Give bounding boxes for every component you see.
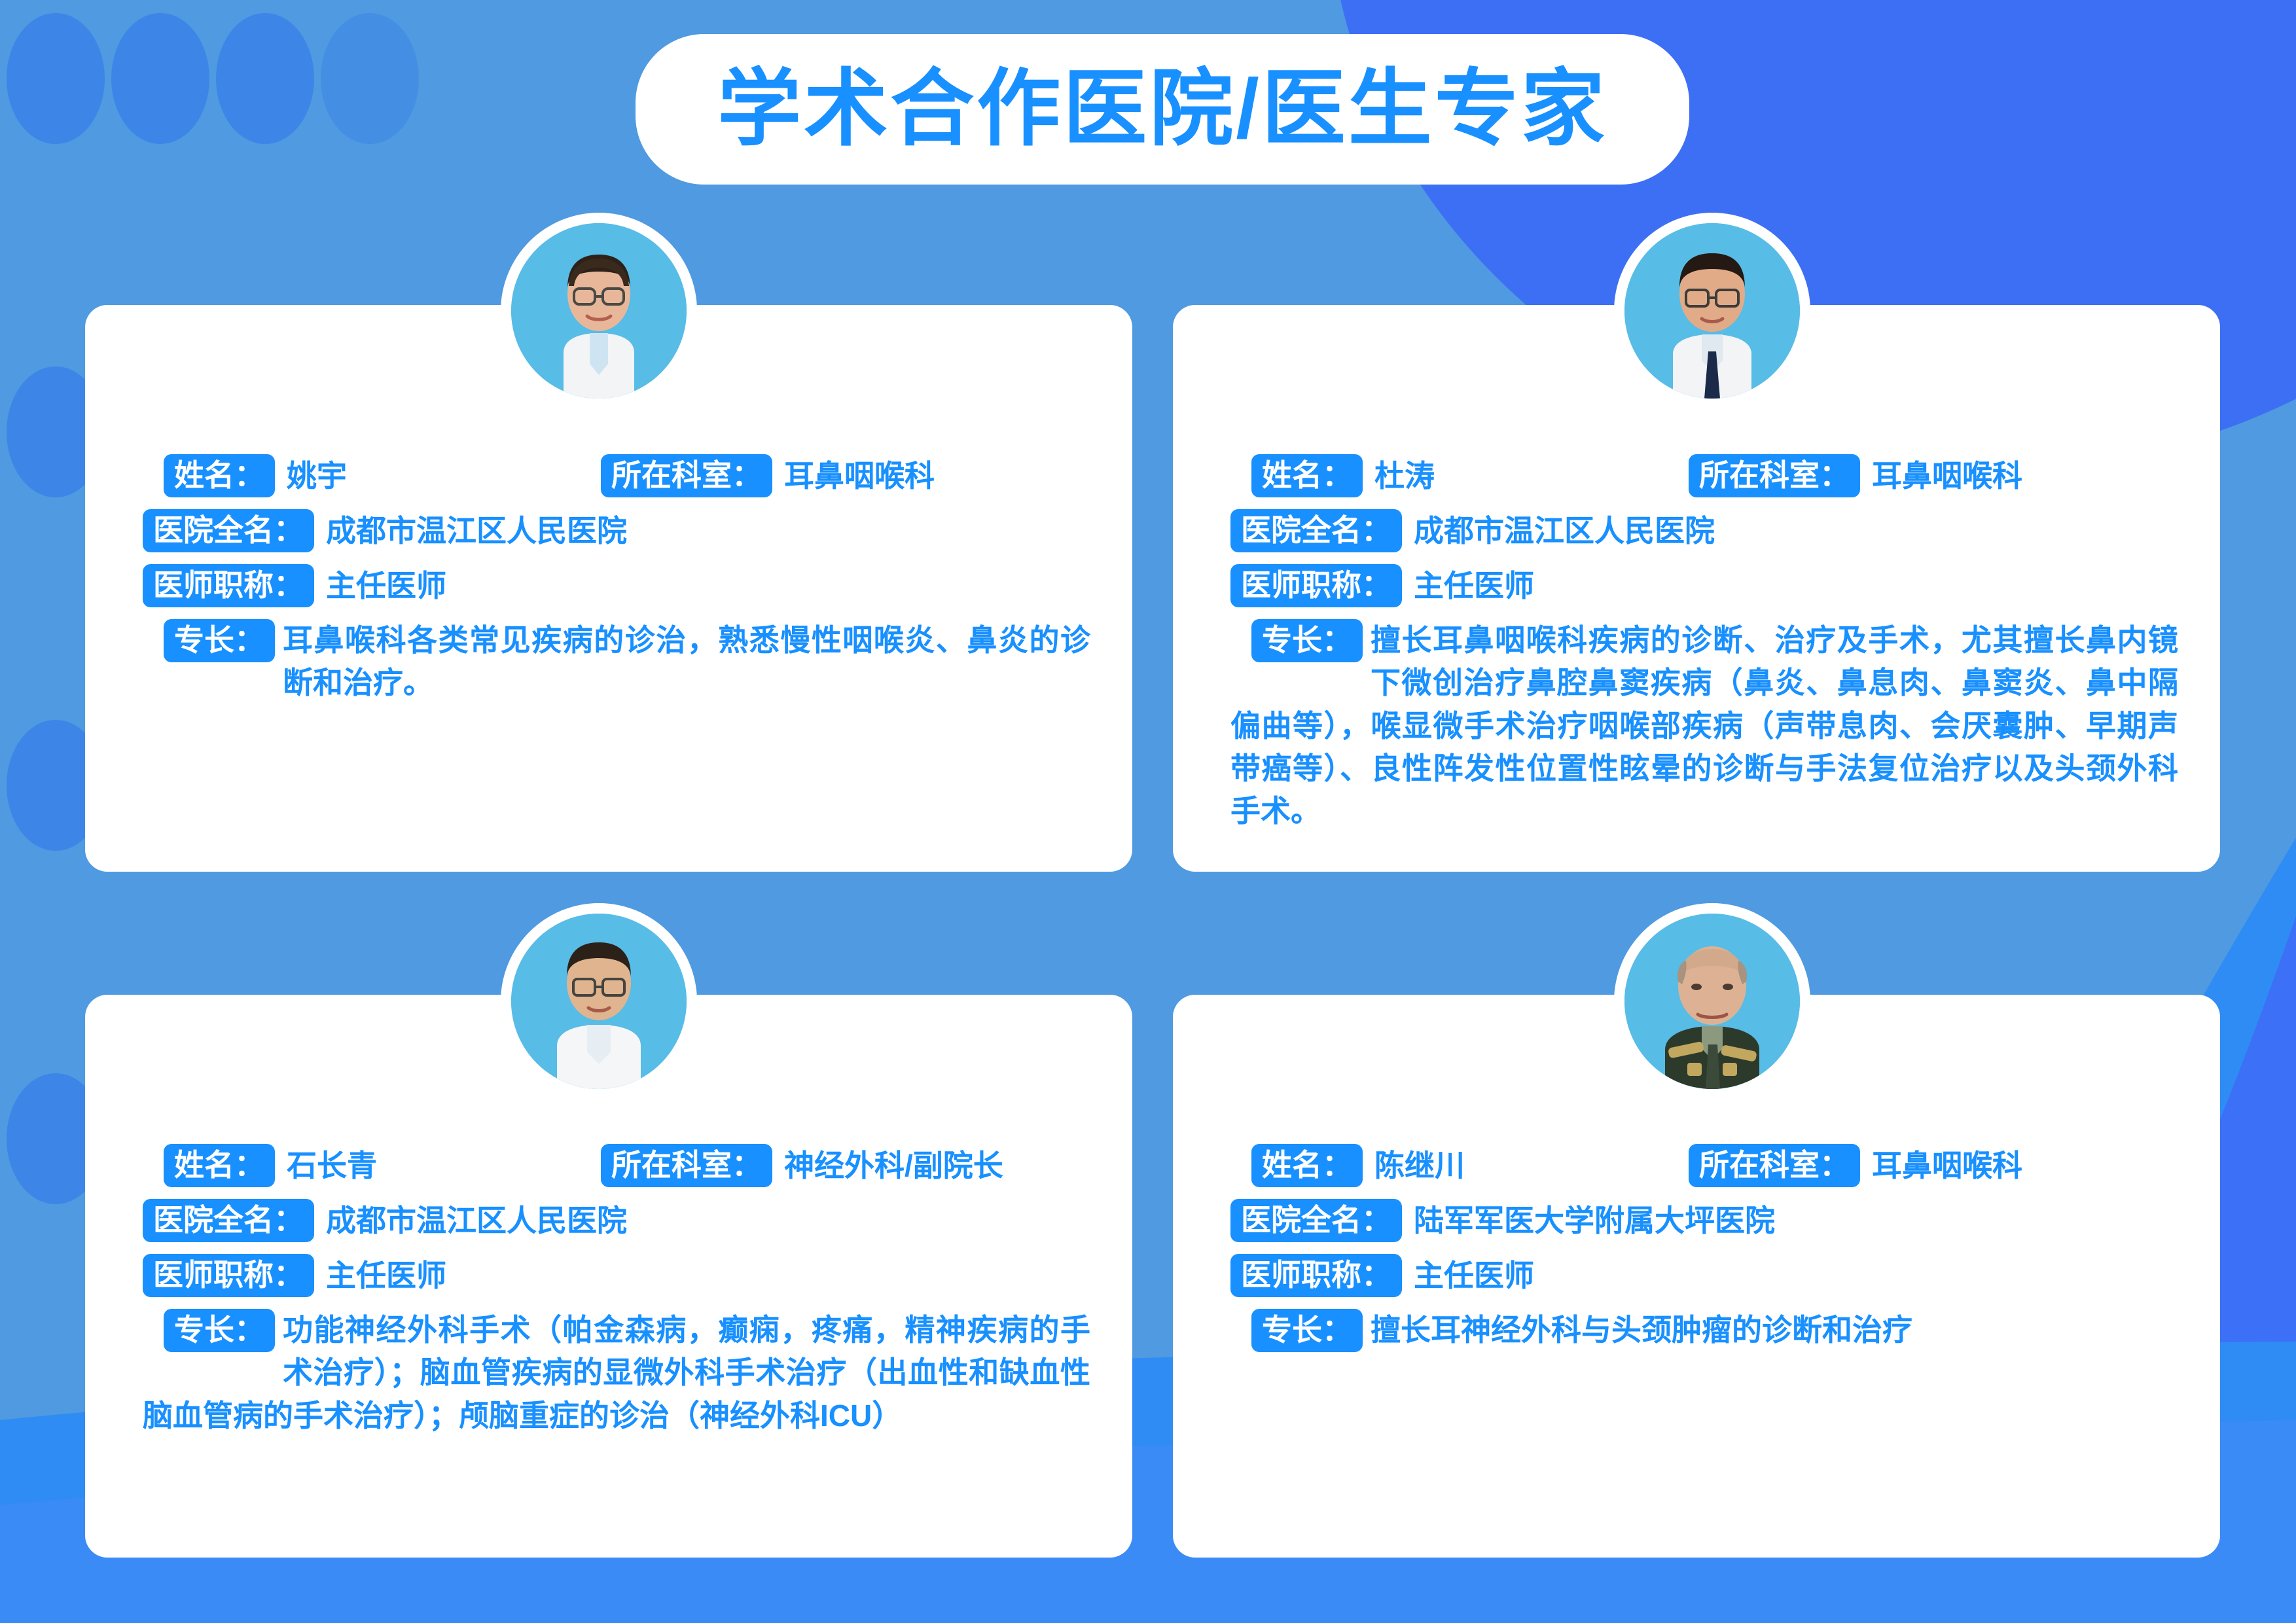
specialty-row: 专长： 擅长耳鼻咽喉科疾病的诊断、治疗及手术，尤其擅长鼻内镜下微创治疗鼻腔鼻窦疾… (1230, 619, 2178, 833)
name-field: 姓名： 石长青 (143, 1144, 601, 1187)
specialty-row: 专长： 功能神经外科手术（帕金森病，癫痫，疼痛，精神疾病的手术治疗）；脑血管疾病… (143, 1309, 1090, 1437)
avatar (1614, 903, 1810, 1099)
doctor-card-body: 姓名： 杜涛 所在科室： 耳鼻咽喉科 医院全名： 成都市温江区人民医院 医师职称… (1230, 454, 2178, 833)
avatar-illustration (511, 914, 687, 1089)
doctor-name: 姚宇 (275, 454, 347, 493)
avatar-illustration (1624, 223, 1800, 399)
name-label: 姓名： (164, 454, 275, 497)
rank-label: 医师职称： (1230, 1254, 1402, 1297)
specialty-label: 专长： (1251, 619, 1363, 662)
rank-label: 医师职称： (1230, 564, 1402, 607)
page-title-pill: 学术合作医院/医生专家 (636, 34, 1689, 185)
doctor-specialty: 功能神经外科手术（帕金森病，癫痫，疼痛，精神疾病的手术治疗）；脑血管疾病的显微外… (143, 1309, 1090, 1437)
decorative-dot (321, 13, 419, 144)
rank-row: 医师职称： 主任医师 (1230, 1254, 2178, 1297)
department-field: 所在科室： 神经外科/副院长 (601, 1144, 1003, 1187)
male-doctor-glasses-tie-avatar (1624, 223, 1800, 399)
hospital-label: 医院全名： (143, 509, 314, 552)
name-department-row: 姓名： 杜涛 所在科室： 耳鼻咽喉科 (1230, 454, 2178, 497)
avatar (501, 213, 697, 409)
doctor-rank: 主任医师 (1402, 1254, 1534, 1293)
hospital-row: 医院全名： 陆军军医大学附属大坪医院 (1230, 1199, 2178, 1242)
avatar-illustration (1624, 914, 1800, 1089)
name-label: 姓名： (1251, 454, 1363, 497)
name-department-row: 姓名： 姚宇 所在科室： 耳鼻咽喉科 (143, 454, 1090, 497)
doctor-specialty: 耳鼻喉科各类常见疾病的诊治，熟悉慢性咽喉炎、鼻炎的诊断和治疗。 (143, 619, 1090, 705)
female-doctor-glasses-avatar (511, 223, 687, 399)
doctor-rank: 主任医师 (1402, 564, 1534, 603)
doctor-department: 耳鼻咽喉科 (1860, 1144, 2022, 1183)
doctor-card-body: 姓名： 石长青 所在科室： 神经外科/副院长 医院全名： 成都市温江区人民医院 … (143, 1144, 1090, 1437)
department-label: 所在科室： (1689, 454, 1860, 497)
department-label: 所在科室： (601, 454, 772, 497)
department-label: 所在科室： (601, 1144, 772, 1187)
doctor-hospital: 成都市温江区人民医院 (1402, 509, 1715, 548)
name-department-row: 姓名： 石长青 所在科室： 神经外科/副院长 (143, 1144, 1090, 1187)
doctor-name: 杜涛 (1363, 454, 1435, 493)
rank-row: 医师职称： 主任医师 (1230, 564, 2178, 607)
avatar (1614, 213, 1810, 409)
specialty-label: 专长： (1251, 1309, 1363, 1352)
doctor-card-body: 姓名： 姚宇 所在科室： 耳鼻咽喉科 医院全名： 成都市温江区人民医院 医师职称… (143, 454, 1090, 705)
doctor-specialty: 擅长耳神经外科与头颈肿瘤的诊断和治疗 (1230, 1309, 2178, 1351)
avatar-illustration (511, 223, 687, 399)
male-doctor-glasses-white-coat-avatar (511, 914, 687, 1089)
doctor-specialty: 擅长耳鼻咽喉科疾病的诊断、治疗及手术，尤其擅长鼻内镜下微创治疗鼻腔鼻窦疾病（鼻炎… (1230, 619, 2178, 833)
department-label: 所在科室： (1689, 1144, 1860, 1187)
doctor-department: 神经外科/副院长 (772, 1144, 1003, 1183)
doctor-department: 耳鼻咽喉科 (1860, 454, 2022, 493)
page-title: 学术合作医院/医生专家 (717, 67, 1607, 151)
name-label: 姓名： (1251, 1144, 1363, 1187)
specialty-row: 专长： 擅长耳神经外科与头颈肿瘤的诊断和治疗 (1230, 1309, 2178, 1351)
hospital-label: 医院全名： (143, 1199, 314, 1242)
department-field: 所在科室： 耳鼻咽喉科 (1689, 454, 2022, 497)
doctor-name: 陈继川 (1363, 1144, 1465, 1183)
hospital-label: 医院全名： (1230, 509, 1402, 552)
doctor-department: 耳鼻咽喉科 (772, 454, 935, 493)
doctor-rank: 主任医师 (314, 564, 446, 603)
name-field: 姓名： 姚宇 (143, 454, 601, 497)
doctor-hospital: 陆军军医大学附属大坪医院 (1402, 1199, 1775, 1238)
doctor-card-body: 姓名： 陈继川 所在科室： 耳鼻咽喉科 医院全名： 陆军军医大学附属大坪医院 医… (1230, 1144, 2178, 1352)
rank-row: 医师职称： 主任医师 (143, 564, 1090, 607)
name-field: 姓名： 陈继川 (1230, 1144, 1689, 1187)
male-doctor-military-uniform-avatar (1624, 914, 1800, 1089)
hospital-row: 医院全名： 成都市温江区人民医院 (143, 509, 1090, 552)
avatar (501, 903, 697, 1099)
doctor-hospital: 成都市温江区人民医院 (314, 509, 627, 548)
decorative-dot (7, 13, 105, 144)
rank-label: 医师职称： (143, 1254, 314, 1297)
rank-row: 医师职称： 主任医师 (143, 1254, 1090, 1297)
rank-label: 医师职称： (143, 564, 314, 607)
department-field: 所在科室： 耳鼻咽喉科 (1689, 1144, 2022, 1187)
name-department-row: 姓名： 陈继川 所在科室： 耳鼻咽喉科 (1230, 1144, 2178, 1187)
decorative-dot (111, 13, 209, 144)
name-label: 姓名： (164, 1144, 275, 1187)
department-field: 所在科室： 耳鼻咽喉科 (601, 454, 935, 497)
specialty-label: 专长： (164, 619, 275, 662)
specialty-label: 专长： (164, 1309, 275, 1352)
hospital-row: 医院全名： 成都市温江区人民医院 (143, 1199, 1090, 1242)
doctor-rank: 主任医师 (314, 1254, 446, 1293)
hospital-label: 医院全名： (1230, 1199, 1402, 1242)
doctor-hospital: 成都市温江区人民医院 (314, 1199, 627, 1238)
name-field: 姓名： 杜涛 (1230, 454, 1689, 497)
specialty-row: 专长： 耳鼻喉科各类常见疾病的诊治，熟悉慢性咽喉炎、鼻炎的诊断和治疗。 (143, 619, 1090, 705)
hospital-row: 医院全名： 成都市温江区人民医院 (1230, 509, 2178, 552)
doctor-name: 石长青 (275, 1144, 377, 1183)
decorative-dot (216, 13, 314, 144)
